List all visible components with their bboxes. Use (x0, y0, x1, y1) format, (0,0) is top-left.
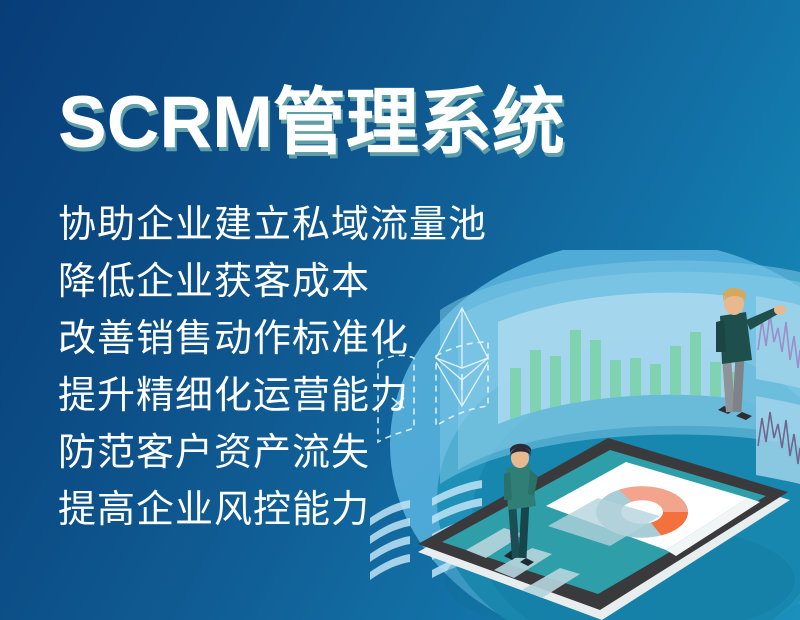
page-title: SCRM管理系统 (58, 86, 565, 159)
feature-list: 协助企业建立私域流量池 降低企业获客成本 改善销售动作标准化 提升精细化运营能力… (58, 197, 487, 539)
list-item: 提高企业风控能力 (58, 482, 487, 539)
list-item: 改善销售动作标准化 (58, 311, 487, 368)
line-chart-panel-bottom (756, 396, 800, 484)
list-item: 降低企业获客成本 (58, 254, 487, 311)
promo-banner: SCRM管理系统 协助企业建立私域流量池 降低企业获客成本 改善销售动作标准化 … (0, 0, 800, 620)
text-column: SCRM管理系统 协助企业建立私域流量池 降低企业获客成本 改善销售动作标准化 … (0, 0, 470, 620)
list-item: 防范客户资产流失 (58, 425, 487, 482)
list-item: 提升精细化运营能力 (58, 368, 487, 425)
list-item: 协助企业建立私域流量池 (58, 197, 487, 254)
